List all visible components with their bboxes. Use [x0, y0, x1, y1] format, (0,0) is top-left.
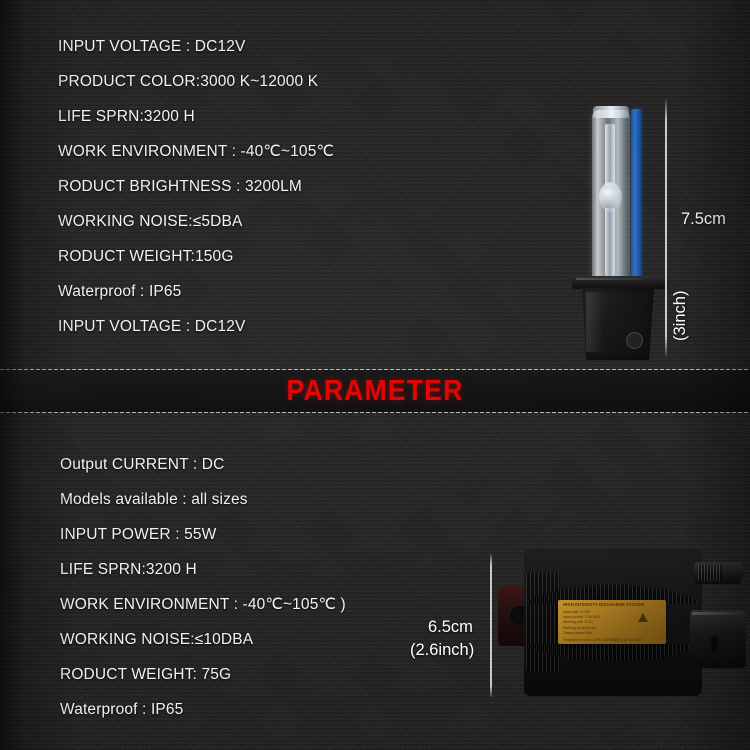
spec-line: RODUCT BRIGHTNESS : 3200LM: [58, 169, 334, 204]
bottom-spec-list: Output CURRENT : DC Models available : a…: [60, 447, 346, 727]
spec-line: Models available : all sizes: [60, 482, 346, 517]
spec-line: PRODUCT COLOR:3000 K~12000 K: [58, 64, 334, 99]
bulb-dimension-line: [665, 100, 667, 356]
spec-line: LIFE SPRN:3200 H: [58, 99, 334, 134]
spec-line: Waterproof : IP65: [58, 274, 334, 309]
bulb-glass-cap: [593, 106, 629, 118]
warning-triangle-icon: [638, 613, 648, 622]
ballast-label-lines: Input bulb: D-12V Input current: 7.0A MA…: [563, 610, 625, 636]
hid-xenon-bulb-image: [572, 104, 668, 360]
ballast-dimension-metric: 6.5cm: [428, 618, 473, 637]
spec-line: INPUT POWER : 55W: [60, 517, 346, 552]
ballast-bottom-connector-notch: [710, 636, 719, 652]
banner-title: PARAMETER: [30, 369, 720, 413]
bulb-flange-highlight: [576, 278, 642, 280]
bulb-base-circle-detail: [626, 332, 643, 349]
spec-line: Output CURRENT : DC: [60, 447, 346, 482]
spec-line: INPUT VOLTAGE : DC12V: [58, 29, 334, 64]
ballast-label-footer: Temperature cover:-40℃~105℃ 安全认证 NO.0482…: [563, 637, 644, 642]
spec-line: LIFE SPRN:3200 H: [60, 552, 346, 587]
spec-line: INPUT VOLTAGE : DC12V: [58, 309, 334, 344]
bulb-upper-electrode: [605, 124, 615, 186]
top-spec-list: INPUT VOLTAGE : DC12V PRODUCT COLOR:3000…: [58, 29, 334, 344]
bulb-blue-stripe: [631, 109, 642, 281]
hid-ballast-image: HIGH INTENSITY DISCHARGE SYSTEM Input bu…: [498, 548, 746, 696]
ballast-label-title: HIGH INTENSITY DISCHARGE SYSTEM: [563, 602, 661, 607]
ballast-dimension-line: [490, 554, 492, 697]
bulb-dimension-imperial: (3inch): [671, 291, 690, 341]
ballast-bottom-fins: [528, 644, 698, 696]
ballast-top-connector-ribs: [698, 565, 722, 581]
ballast-top-fins: [528, 548, 698, 604]
spec-line: RODUCT WEIGHT: 75G: [60, 657, 346, 692]
bulb-lower-electrode: [605, 208, 615, 276]
spec-line: Waterproof : IP65: [60, 692, 346, 727]
ballast-label-line: Output power:55W: [563, 631, 625, 636]
spec-line: WORKING NOISE:≤10DBA: [60, 622, 346, 657]
ballast-top-connector-tip: [730, 566, 746, 579]
spec-line: WORK ENVIRONMENT : -40℃~105℃ ): [60, 587, 346, 622]
bulb-base-highlight: [586, 292, 604, 352]
product-spec-image: INPUT VOLTAGE : DC12V PRODUCT COLOR:3000…: [0, 0, 750, 750]
parameter-banner: PARAMETER: [0, 369, 750, 413]
ballast-bottom-connector-highlight: [692, 612, 742, 615]
spec-line: RODUCT WEIGHT:150G: [58, 239, 334, 274]
spec-line: WORK ENVIRONMENT : -40℃~105℃: [58, 134, 334, 169]
ballast-spec-label: HIGH INTENSITY DISCHARGE SYSTEM Input bu…: [558, 600, 666, 644]
bulb-dimension-metric: 7.5cm: [681, 210, 726, 229]
ballast-dimension-imperial: (2.6inch): [410, 641, 474, 660]
spec-line: WORKING NOISE:≤5DBA: [58, 204, 334, 239]
